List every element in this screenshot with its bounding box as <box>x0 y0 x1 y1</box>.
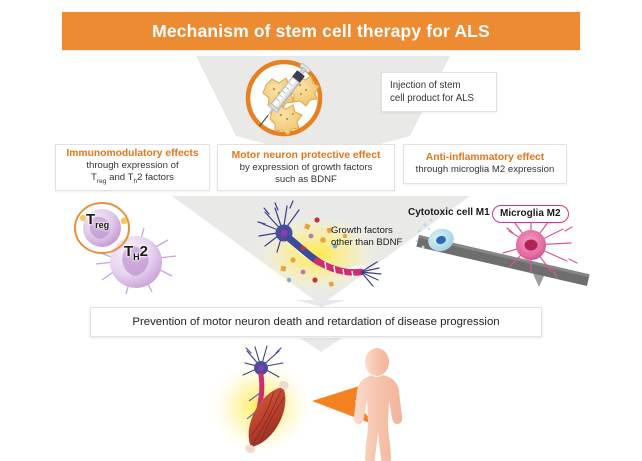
effect-subtext-motor-neuron-line2: such as BDNF <box>275 174 337 186</box>
th2-label: TH2 <box>124 243 148 262</box>
injection-callout: Injection of stem cell product for ALS <box>381 72 497 112</box>
injection-callout-line2: cell product for ALS <box>390 92 474 106</box>
effect-subtext-immunomodulatory-line2: Treg and Th2 factors <box>91 172 174 188</box>
effect-card-motor-neuron[interactable]: Motor neuron protective effect by expres… <box>217 144 395 191</box>
effect-heading-anti-inflammatory: Anti-inflammatory effect <box>426 151 544 164</box>
growth-factor-label-line1: Growth factors <box>331 225 402 237</box>
effect-subtext-immunomodulatory-line1: through expression of <box>86 160 178 172</box>
effect-card-immunomodulatory[interactable]: Immunomodulatory effects through express… <box>55 144 210 191</box>
page-title: Mechanism of stem cell therapy for ALS <box>152 21 490 42</box>
effect-heading-immunomodulatory: Immunomodulatory effects <box>66 147 198 160</box>
neuron-nucleus-icon <box>281 230 288 237</box>
human-body-silhouette <box>354 348 402 461</box>
outcome-text: Prevention of motor neuron death and ret… <box>132 316 499 328</box>
effect-card-anti-inflammatory[interactable]: Anti-inflammatory effect through microgl… <box>403 144 567 184</box>
injection-callout-line1: Injection of stem <box>390 79 461 93</box>
growth-factor-label: Growth factors other than BDNF <box>331 225 402 249</box>
orbit-dot-icon <box>121 218 127 224</box>
diagram-canvas: Mechanism of stem cell therapy for ALS <box>0 0 642 461</box>
growth-factor-label-line2: other than BDNF <box>331 237 402 249</box>
effect-subtext-anti-inflammatory-line1: through microglia M2 expression <box>416 164 555 176</box>
microglia-m2-badge: Microglia M2 <box>492 205 569 223</box>
header-bar: Mechanism of stem cell therapy for ALS <box>62 12 580 50</box>
effect-subtext-motor-neuron-line1: by expression of growth factors <box>240 162 373 174</box>
microglia-seesaw-illustration <box>405 215 590 300</box>
effect-heading-motor-neuron: Motor neuron protective effect <box>232 149 381 162</box>
stem-cell-injection-illustration <box>240 55 400 145</box>
funnel-tip <box>296 300 346 307</box>
treg-label: Treg <box>86 211 109 230</box>
bottom-neuron-nucleus-icon <box>258 365 264 371</box>
outcome-box: Prevention of motor neuron death and ret… <box>90 307 542 337</box>
bottom-outcome-illustration <box>205 345 435 461</box>
cytotoxic-cell-label: Cytotoxic cell M1 <box>408 207 490 219</box>
